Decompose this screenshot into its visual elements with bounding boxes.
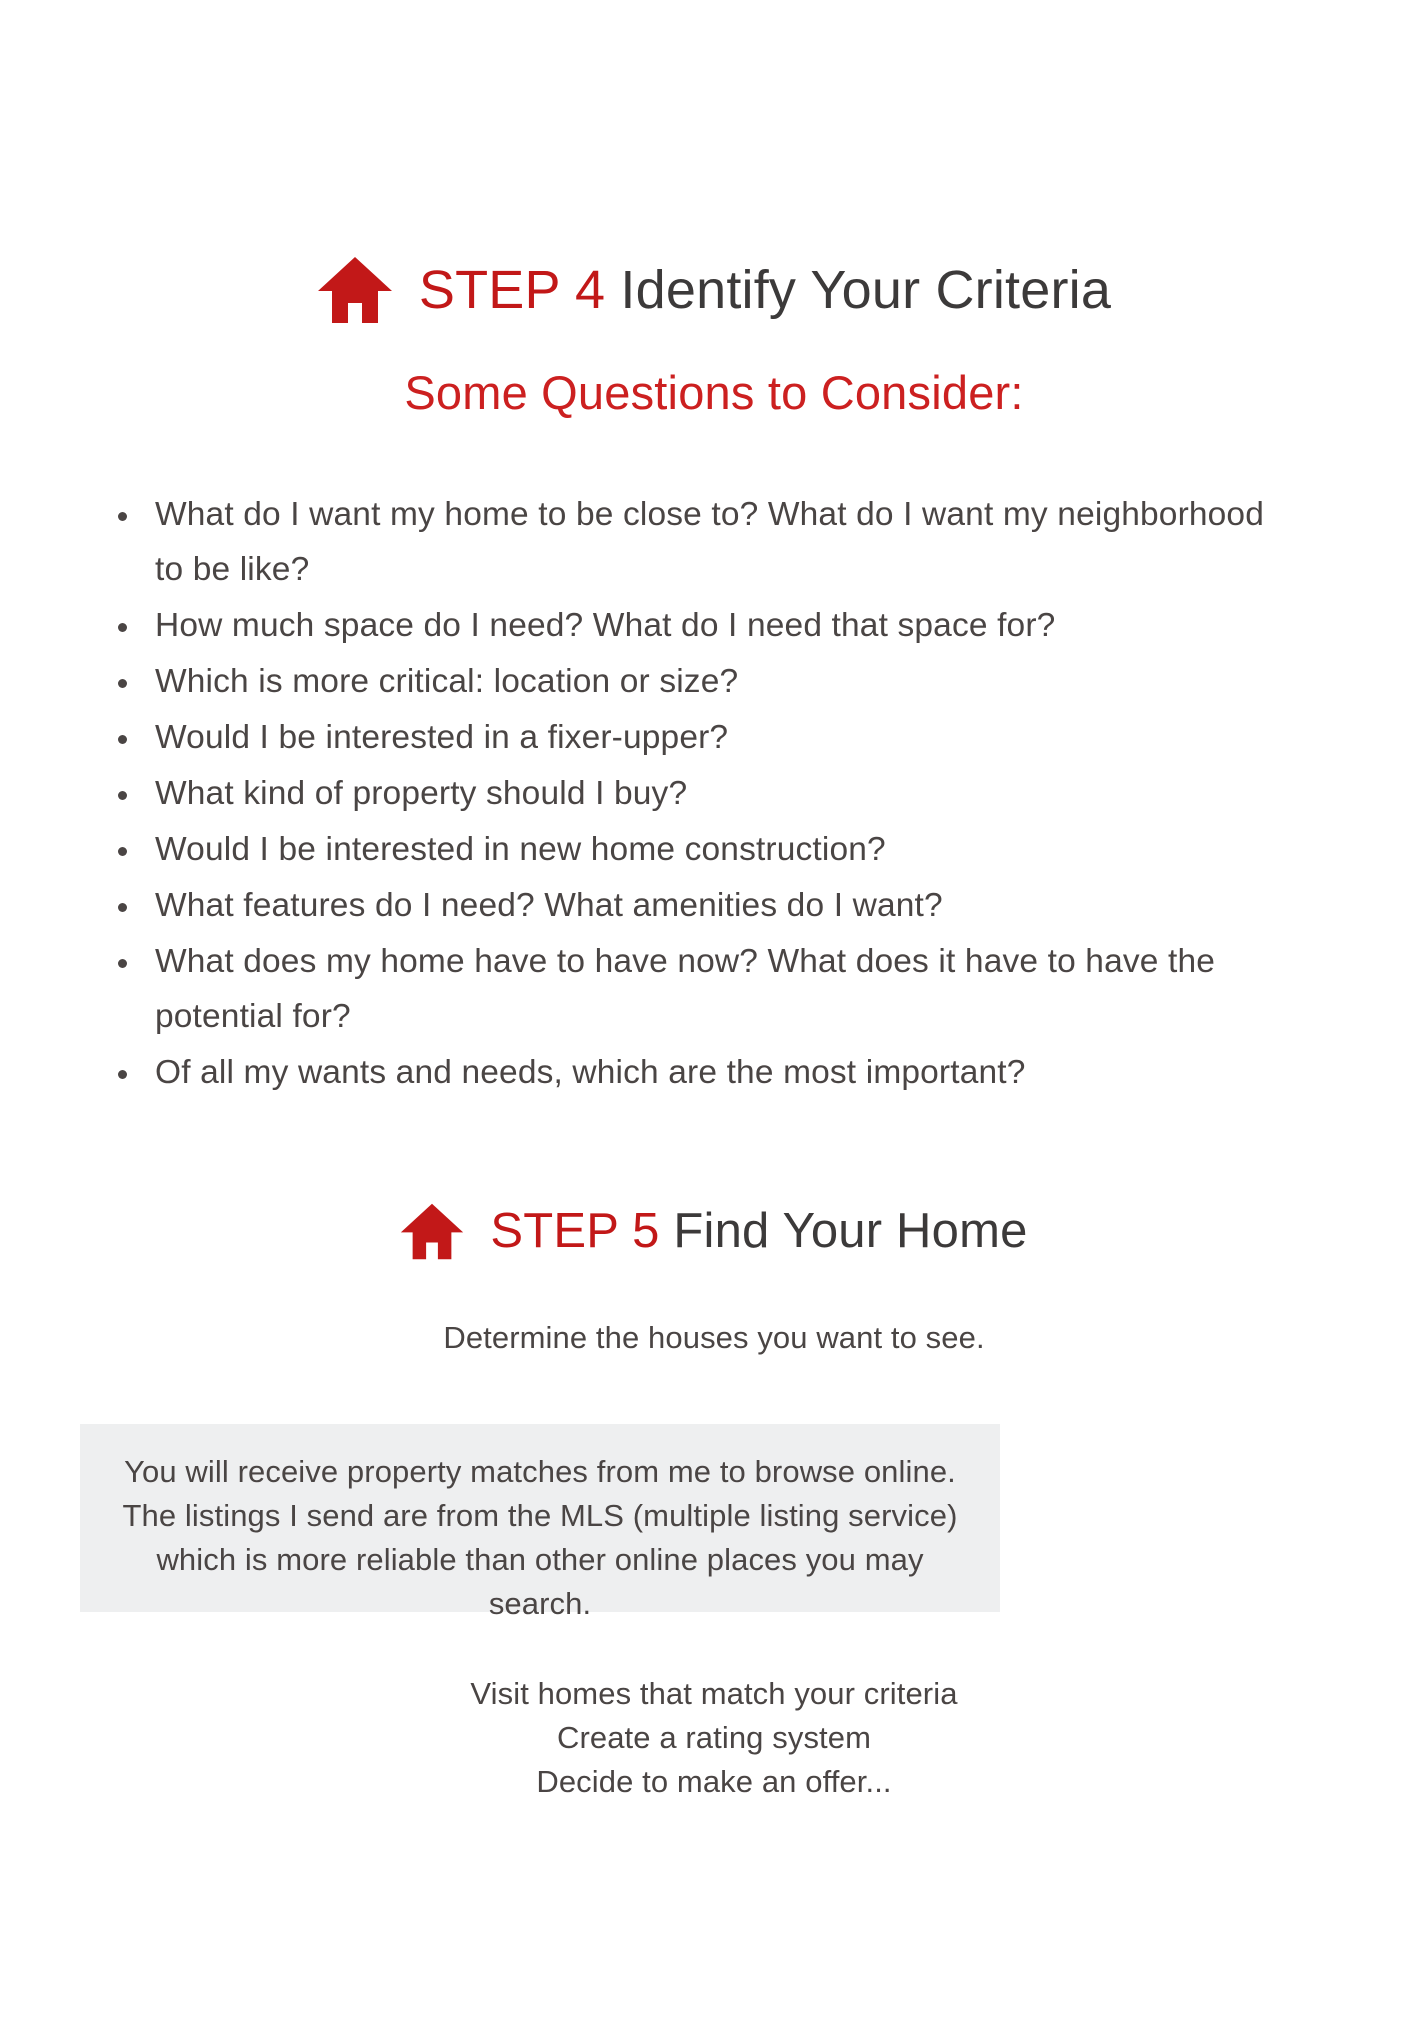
house-icon — [317, 255, 393, 325]
house-icon — [400, 1202, 464, 1261]
step-5-title: STEP 5 Find Your Home — [490, 1207, 1027, 1256]
questions-to-consider-heading: Some Questions to Consider: — [0, 369, 1428, 416]
question-text: What do I want my home to be close to? W… — [155, 496, 1264, 588]
step-5-number: STEP 5 — [490, 1204, 673, 1258]
step-4-number: STEP 4 — [419, 260, 621, 320]
question-text: Of all my wants and needs, which are the… — [155, 1054, 1026, 1091]
step-4-title: STEP 4 Identify Your Criteria — [419, 263, 1111, 317]
step-4-header: STEP 4 Identify Your Criteria — [0, 248, 1428, 332]
list-item: Would I be interested in new home constr… — [112, 822, 1292, 877]
list-item: What kind of property should I buy? — [112, 766, 1292, 821]
closing-steps-list: Visit homes that match your criteria Cre… — [0, 1672, 1428, 1804]
closing-step-line: Visit homes that match your criteria — [0, 1672, 1428, 1716]
closing-step-line: Decide to make an offer... — [0, 1760, 1428, 1804]
document-page: STEP 4 Identify Your Criteria Some Quest… — [0, 0, 1428, 2028]
mls-callout-text: You will receive property matches from m… — [110, 1450, 970, 1626]
question-text: How much space do I need? What do I need… — [155, 607, 1055, 644]
question-text: What kind of property should I buy? — [155, 775, 687, 812]
mls-callout-box: You will receive property matches from m… — [80, 1424, 1000, 1612]
list-item: What does my home have to have now? What… — [112, 934, 1292, 1044]
list-item: What features do I need? What amenities … — [112, 878, 1292, 933]
list-item: How much space do I need? What do I need… — [112, 598, 1292, 653]
list-item: Which is more critical: location or size… — [112, 654, 1292, 709]
list-item: Of all my wants and needs, which are the… — [112, 1045, 1292, 1100]
question-text: Would I be interested in new home constr… — [155, 831, 886, 868]
question-text: What does my home have to have now? What… — [155, 943, 1215, 1035]
closing-step-line: Create a rating system — [0, 1716, 1428, 1760]
step-5-name: Find Your Home — [673, 1204, 1027, 1258]
step-4-name: Identify Your Criteria — [620, 260, 1111, 320]
question-text: Which is more critical: location or size… — [155, 663, 738, 700]
list-item: What do I want my home to be close to? W… — [112, 487, 1292, 597]
question-text: Would I be interested in a fixer-upper? — [155, 719, 728, 756]
list-item: Would I be interested in a fixer-upper? — [112, 710, 1292, 765]
question-text: What features do I need? What amenities … — [155, 887, 943, 924]
criteria-question-list: What do I want my home to be close to? W… — [112, 487, 1292, 1101]
find-home-caption: Determine the houses you want to see. — [0, 1322, 1428, 1353]
step-5-header: STEP 5 Find Your Home — [0, 1195, 1428, 1267]
